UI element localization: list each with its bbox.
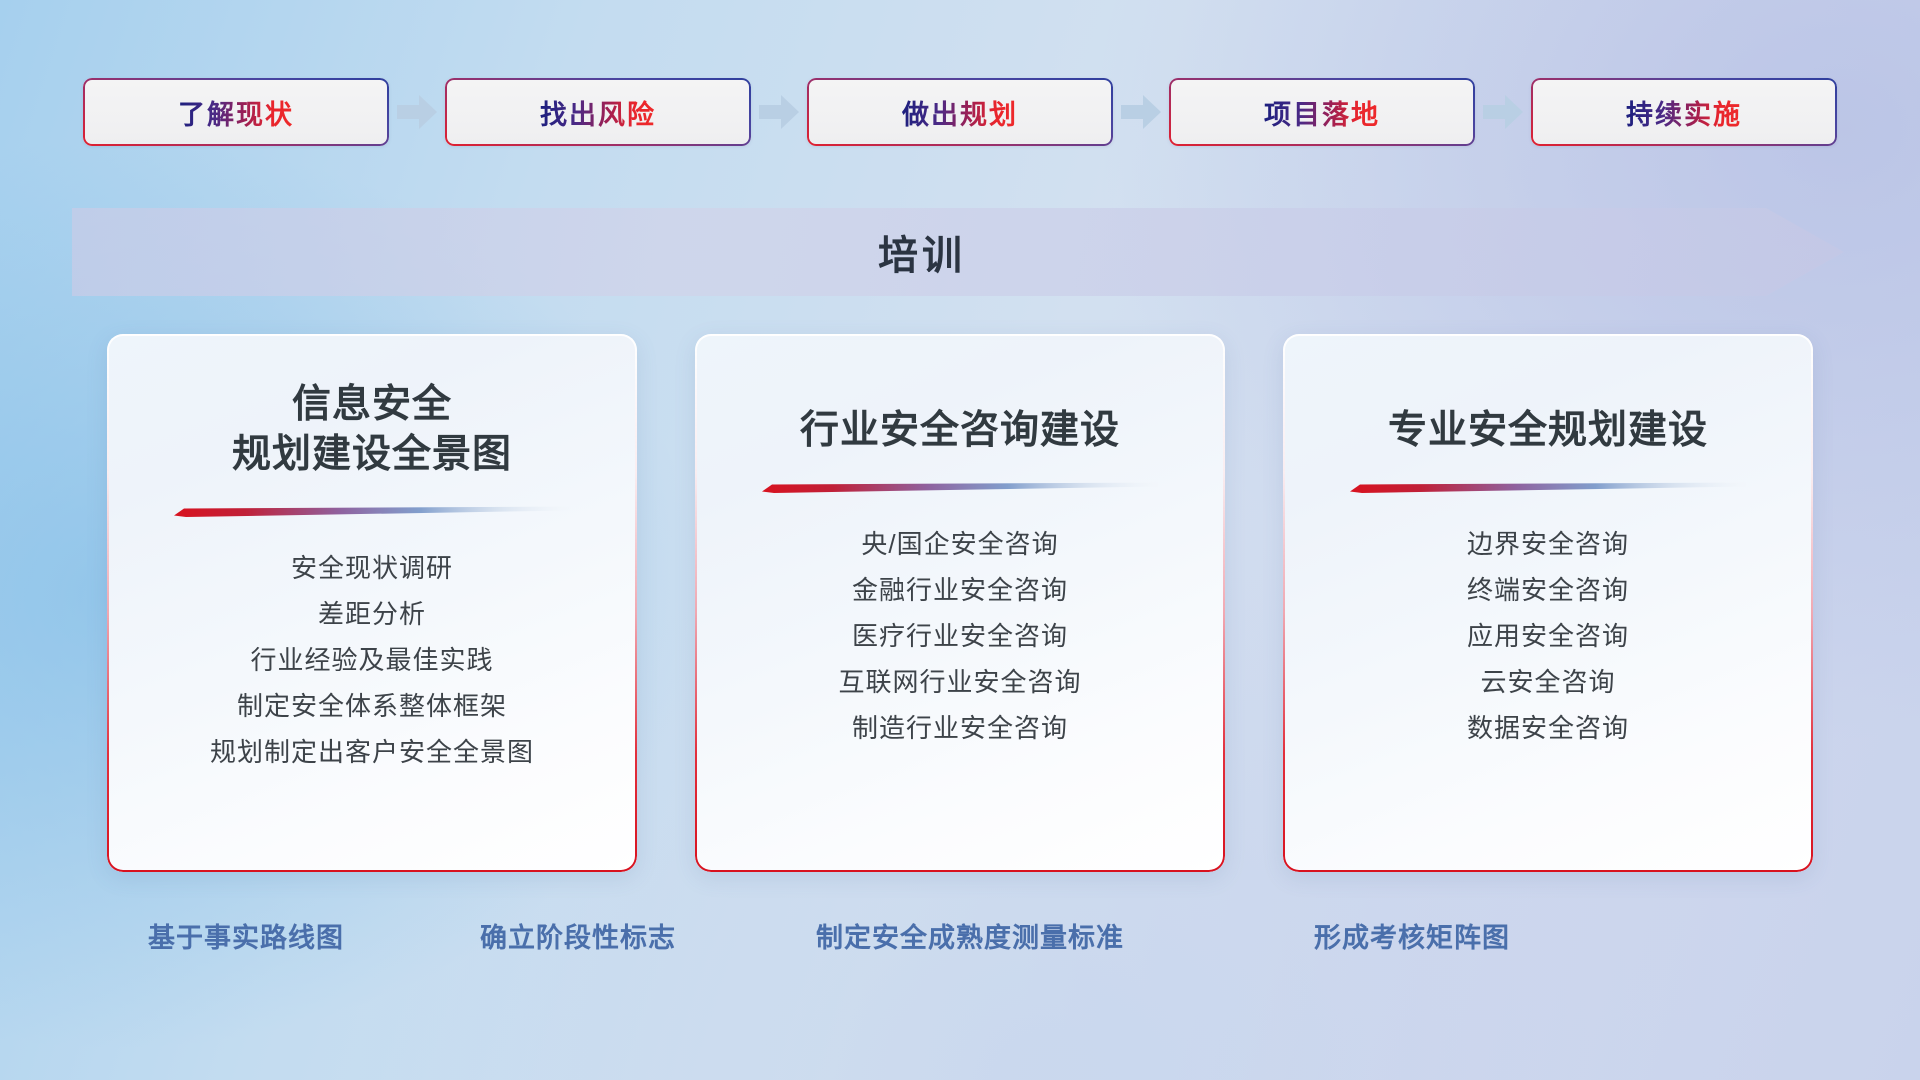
list-item: 差距分析 — [141, 591, 603, 637]
gradient-underline-icon — [762, 482, 1158, 493]
list-item: 制定安全体系整体框架 — [141, 683, 603, 729]
card-industry-security-consulting[interactable]: 行业安全咨询建设 — [695, 334, 1225, 872]
list-item: 制造行业安全咨询 — [729, 705, 1191, 751]
footer-label-milestone: 确立阶段性标志 — [480, 916, 676, 955]
card-item-list: 边界安全咨询 终端安全咨询 应用安全咨询 云安全咨询 数据安全咨询 — [1317, 521, 1779, 751]
arrow-right-block-icon — [751, 78, 807, 146]
arrow-right-block-icon — [1113, 78, 1169, 146]
list-item: 央/国企安全咨询 — [729, 521, 1191, 567]
banner-title: 培训 — [72, 208, 1772, 296]
cards-row: 信息安全 规划建设全景图 — [0, 334, 1920, 874]
arrow-right-block-icon — [389, 78, 445, 146]
footer-label-roadmap: 基于事实路线图 — [148, 916, 344, 955]
step-label: 做出规划 — [902, 93, 1018, 132]
list-item: 终端安全咨询 — [1317, 567, 1779, 613]
step-label: 持续实施 — [1626, 93, 1742, 132]
step-label: 找出风险 — [540, 93, 656, 132]
list-item: 边界安全咨询 — [1317, 521, 1779, 567]
step-box-4[interactable]: 项目落地 — [1169, 78, 1475, 146]
process-steps-row: 了解现状 找出风险 做出规划 项目落地 — [0, 77, 1920, 147]
card-item-list: 安全现状调研 差距分析 行业经验及最佳实践 制定安全体系整体框架 规划制定出客户… — [141, 545, 603, 775]
footer-label-matrix: 形成考核矩阵图 — [1314, 916, 1510, 955]
arrow-right-block-icon — [1475, 78, 1531, 146]
step-box-5[interactable]: 持续实施 — [1531, 78, 1837, 146]
footer-labels-row: 基于事实路线图 确立阶段性标志 制定安全成熟度测量标准 形成考核矩阵图 — [0, 916, 1920, 962]
slide-canvas: 了解现状 找出风险 做出规划 项目落地 — [0, 0, 1920, 1080]
card-information-security-blueprint[interactable]: 信息安全 规划建设全景图 — [107, 334, 637, 872]
card-title: 行业安全咨询建设 — [800, 406, 1120, 456]
list-item: 安全现状调研 — [141, 545, 603, 591]
list-item: 云安全咨询 — [1317, 659, 1779, 705]
list-item: 互联网行业安全咨询 — [729, 659, 1191, 705]
list-item: 数据安全咨询 — [1317, 705, 1779, 751]
gradient-underline-icon — [174, 506, 570, 517]
step-label: 了解现状 — [178, 93, 294, 132]
list-item: 应用安全咨询 — [1317, 613, 1779, 659]
footer-label-maturity: 制定安全成熟度测量标准 — [816, 916, 1124, 955]
card-item-list: 央/国企安全咨询 金融行业安全咨询 医疗行业安全咨询 互联网行业安全咨询 制造行… — [729, 521, 1191, 751]
card-title: 信息安全 规划建设全景图 — [232, 380, 512, 480]
step-box-3[interactable]: 做出规划 — [807, 78, 1113, 146]
list-item: 规划制定出客户安全全景图 — [141, 729, 603, 775]
list-item: 行业经验及最佳实践 — [141, 637, 603, 683]
card-professional-security-planning[interactable]: 专业安全规划建设 — [1283, 334, 1813, 872]
list-item: 金融行业安全咨询 — [729, 567, 1191, 613]
step-box-2[interactable]: 找出风险 — [445, 78, 751, 146]
list-item: 医疗行业安全咨询 — [729, 613, 1191, 659]
card-title: 专业安全规划建设 — [1388, 406, 1708, 456]
step-box-1[interactable]: 了解现状 — [83, 78, 389, 146]
gradient-underline-icon — [1350, 482, 1746, 493]
step-label: 项目落地 — [1264, 93, 1380, 132]
training-banner: 培训 — [72, 208, 1844, 296]
